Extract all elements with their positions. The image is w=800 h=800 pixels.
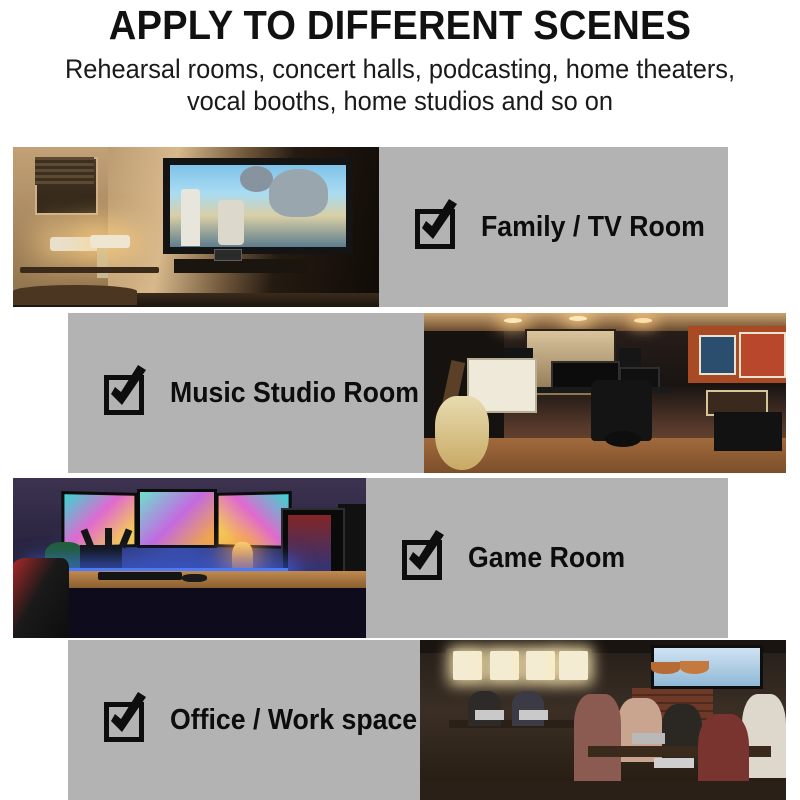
checked-checkbox-icon bbox=[402, 536, 446, 580]
page-title: APPLY TO DIFFERENT SCENES bbox=[28, 2, 772, 48]
scene-photo-office-work-space bbox=[420, 640, 786, 800]
scene-panel-office-work-space[interactable]: Office / Work space bbox=[68, 640, 786, 800]
subtitle-line-1: Rehearsal rooms, concert halls, podcasti… bbox=[24, 53, 776, 85]
scene-label-text: Music Studio Room bbox=[170, 377, 419, 409]
scene-panel-game-room[interactable]: Game Room bbox=[13, 478, 728, 638]
scene-photo-family-tv-room bbox=[13, 147, 379, 307]
scene-photo-music-studio-room bbox=[424, 313, 786, 473]
scene-panel-family-tv-room[interactable]: Family / TV Room bbox=[13, 147, 728, 307]
scene-label-office-work-space: Office / Work space bbox=[68, 640, 420, 800]
scene-label-text: Game Room bbox=[468, 542, 625, 574]
scene-label-family-tv-room: Family / TV Room bbox=[379, 147, 728, 307]
scene-photo-game-room bbox=[13, 478, 366, 638]
page-subtitle: Rehearsal rooms, concert halls, podcasti… bbox=[24, 53, 776, 117]
checked-checkbox-icon bbox=[104, 371, 148, 415]
scene-label-music-studio-room: Music Studio Room bbox=[68, 313, 424, 473]
scene-label-text: Office / Work space bbox=[170, 704, 417, 736]
scene-label-text: Family / TV Room bbox=[481, 211, 705, 243]
scene-label-game-room: Game Room bbox=[366, 478, 728, 638]
subtitle-line-2: vocal booths, home studios and so on bbox=[24, 85, 776, 117]
checked-checkbox-icon bbox=[104, 698, 148, 742]
checked-checkbox-icon bbox=[415, 205, 459, 249]
page-header: APPLY TO DIFFERENT SCENES Rehearsal room… bbox=[0, 0, 800, 117]
scene-panel-music-studio-room[interactable]: Music Studio Room bbox=[68, 313, 786, 473]
